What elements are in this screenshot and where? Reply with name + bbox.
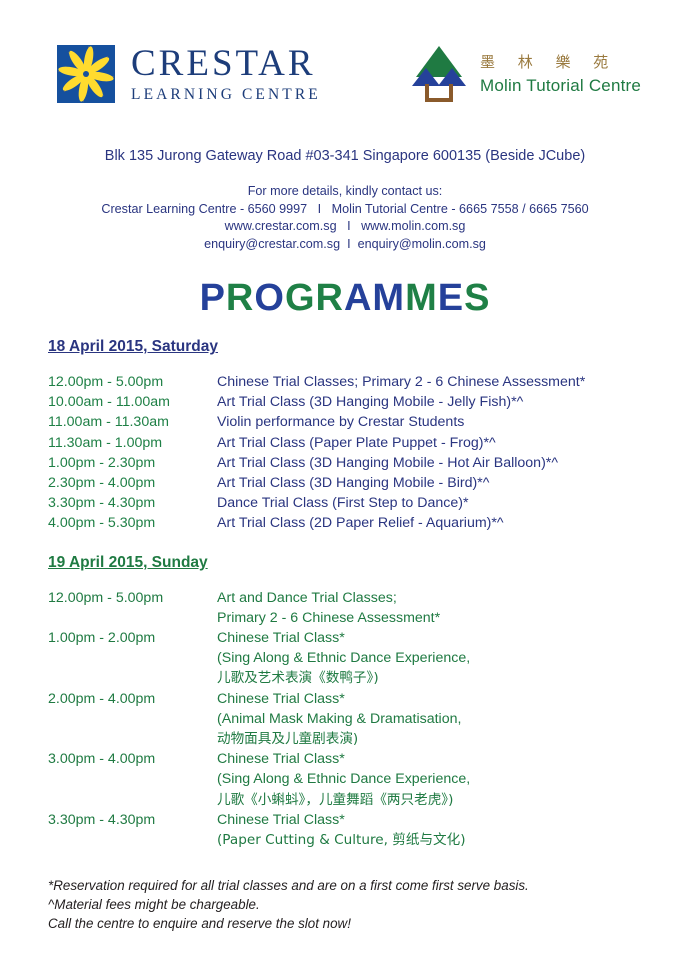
schedule-description: Chinese Trial Classes; Primary 2 - 6 Chi… <box>217 372 585 392</box>
schedule-description-line: Chinese Trial Class* <box>217 749 470 769</box>
schedule-description-line: 儿歌《小蝌蚪》，儿童舞蹈《两只老虎》) <box>217 790 470 810</box>
saturday-section: 18 April 2015, Saturday 12.00pm - 5.00pm… <box>0 338 690 534</box>
schedule-description-line: Art and Dance Trial Classes; <box>217 588 440 608</box>
schedule-description: Chinese Trial Class*(Sing Along & Ethnic… <box>217 628 470 689</box>
schedule-description-line: Dance Trial Class (First Step to Dance)* <box>217 493 469 513</box>
schedule-time: 11.00am - 11.30am <box>48 412 217 432</box>
schedule-row: 12.00pm - 5.00pmChinese Trial Classes; P… <box>48 372 690 392</box>
schedule-description-line: Chinese Trial Class* <box>217 810 466 830</box>
schedule-description-line: (Sing Along & Ethnic Dance Experience, <box>217 769 470 789</box>
schedule-row: 10.00am - 11.00amArt Trial Class (3D Han… <box>48 392 690 412</box>
molin-name: Molin Tutorial Centre <box>480 77 641 94</box>
title-letter-2: O <box>254 277 285 319</box>
schedule-description-line: 动物面具及儿童剧表演) <box>217 729 461 749</box>
molin-wordmark: 墨 林 樂 苑 Molin Tutorial Centre <box>480 55 641 94</box>
contact-emails: enquiry@crestar.com.sg I enquiry@molin.c… <box>0 236 690 254</box>
schedule-description-line: Art Trial Class (3D Hanging Mobile - Bir… <box>217 473 489 493</box>
title-letter-7: M <box>405 277 438 319</box>
schedule-description: Art Trial Class (2D Paper Relief - Aquar… <box>217 513 504 533</box>
schedule-description: Art Trial Class (3D Hanging Mobile - Jel… <box>217 392 523 412</box>
schedule-description: Art Trial Class (3D Hanging Mobile - Bir… <box>217 473 489 493</box>
schedule-row: 2.00pm - 4.00pmChinese Trial Class*(Anim… <box>48 689 690 750</box>
schedule-row: 1.00pm - 2.00pmChinese Trial Class*(Sing… <box>48 628 690 689</box>
address-line: Blk 135 Jurong Gateway Road #03-341 Sing… <box>0 148 690 164</box>
schedule-row: 11.30am - 1.00pmArt Trial Class (Paper P… <box>48 433 690 453</box>
schedule-row: 3.30pm - 4.30pmChinese Trial Class*(Pape… <box>48 810 690 850</box>
schedule-description: Chinese Trial Class*(Sing Along & Ethnic… <box>217 749 470 810</box>
crestar-subtitle: LEARNING CENTRE <box>131 87 321 103</box>
title-letter-9: S <box>464 277 490 319</box>
schedule-description-line: Chinese Trial Classes; Primary 2 - 6 Chi… <box>217 372 585 392</box>
schedule-description: Dance Trial Class (First Step to Dance)* <box>217 493 469 513</box>
footnotes: *Reservation required for all trial clas… <box>48 876 690 933</box>
schedule-description-line: Art Trial Class (3D Hanging Mobile - Jel… <box>217 392 523 412</box>
schedule-description: Violin performance by Crestar Students <box>217 412 464 432</box>
schedule-time: 3.30pm - 4.30pm <box>48 493 217 513</box>
schedule-time: 1.00pm - 2.00pm <box>48 628 217 689</box>
schedule-row: 2.30pm - 4.00pmArt Trial Class (3D Hangi… <box>48 473 690 493</box>
schedule-description: Art Trial Class (3D Hanging Mobile - Hot… <box>217 453 558 473</box>
title-letter-0: P <box>200 277 226 319</box>
schedule-description: Art Trial Class (Paper Plate Puppet - Fr… <box>217 433 496 453</box>
crestar-starburst-icon <box>57 45 115 103</box>
title-letter-5: A <box>344 277 372 319</box>
schedule-time: 2.00pm - 4.00pm <box>48 689 217 750</box>
schedule-description-line: Chinese Trial Class* <box>217 689 461 709</box>
schedule-row: 1.00pm - 2.30pmArt Trial Class (3D Hangi… <box>48 453 690 473</box>
schedule-description-line: Violin performance by Crestar Students <box>217 412 464 432</box>
schedule-description-line: (Sing Along & Ethnic Dance Experience, <box>217 648 470 668</box>
schedule-time: 12.00pm - 5.00pm <box>48 588 217 628</box>
schedule-description: Chinese Trial Class*(Animal Mask Making … <box>217 689 461 750</box>
schedule-description-line: Art Trial Class (Paper Plate Puppet - Fr… <box>217 433 496 453</box>
schedule-time: 4.00pm - 5.30pm <box>48 513 217 533</box>
schedule-time: 1.00pm - 2.30pm <box>48 453 217 473</box>
page-title: PROGRAMMES <box>0 277 690 320</box>
title-letter-4: R <box>316 277 344 319</box>
schedule-description: Chinese Trial Class*(Paper Cutting & Cul… <box>217 810 466 850</box>
molin-chinese-name: 墨 林 樂 苑 <box>480 55 641 70</box>
molin-logo: 墨 林 樂 苑 Molin Tutorial Centre <box>408 44 641 104</box>
saturday-heading: 18 April 2015, Saturday <box>48 338 218 356</box>
schedule-row: 3.30pm - 4.30pmDance Trial Class (First … <box>48 493 690 513</box>
schedule-row: 3.00pm - 4.00pmChinese Trial Class*(Sing… <box>48 749 690 810</box>
sunday-section: 19 April 2015, Sunday 12.00pm - 5.00pmAr… <box>0 554 690 851</box>
schedule-description-line: (Animal Mask Making & Dramatisation, <box>217 709 461 729</box>
contact-phones: Crestar Learning Centre - 6560 9997 I Mo… <box>0 201 690 219</box>
schedule-time: 2.30pm - 4.00pm <box>48 473 217 493</box>
sunday-heading: 19 April 2015, Sunday <box>48 554 208 572</box>
schedule-time: 3.00pm - 4.00pm <box>48 749 217 810</box>
contact-block: For more details, kindly contact us: Cre… <box>0 183 690 253</box>
footnote-line-2: Call the centre to enquire and reserve t… <box>48 914 690 933</box>
schedule-description: Art and Dance Trial Classes;Primary 2 - … <box>217 588 440 628</box>
footnote-line-0: *Reservation required for all trial clas… <box>48 876 690 895</box>
schedule-description-line: Chinese Trial Class* <box>217 628 470 648</box>
saturday-schedule: 12.00pm - 5.00pmChinese Trial Classes; P… <box>0 372 690 534</box>
schedule-row: 4.00pm - 5.30pmArt Trial Class (2D Paper… <box>48 513 690 533</box>
schedule-description-line: 儿歌及艺术表演《数鸭子》) <box>217 668 470 688</box>
logo-header: CRESTAR LEARNING CENTRE 墨 林 樂 苑 Molin Tu… <box>0 0 690 120</box>
title-letter-3: G <box>285 277 316 319</box>
schedule-row: 12.00pm - 5.00pmArt and Dance Trial Clas… <box>48 588 690 628</box>
title-letter-1: R <box>226 277 254 319</box>
schedule-description-line: Primary 2 - 6 Chinese Assessment* <box>217 608 440 628</box>
title-letter-6: M <box>372 277 405 319</box>
sunday-schedule: 12.00pm - 5.00pmArt and Dance Trial Clas… <box>0 588 690 851</box>
crestar-wordmark: CRESTAR LEARNING CENTRE <box>131 45 321 103</box>
schedule-row: 11.00am - 11.30amViolin performance by C… <box>48 412 690 432</box>
footnote-line-1: ^Material fees might be chargeable. <box>48 895 690 914</box>
crestar-name: CRESTAR <box>131 45 321 82</box>
schedule-time: 10.00am - 11.00am <box>48 392 217 412</box>
crestar-logo: CRESTAR LEARNING CENTRE <box>57 45 321 103</box>
schedule-description-line: Art Trial Class (2D Paper Relief - Aquar… <box>217 513 504 533</box>
molin-tree-house-icon <box>408 44 470 104</box>
schedule-time: 3.30pm - 4.30pm <box>48 810 217 850</box>
schedule-description-line: (Paper Cutting & Culture, 剪纸与文化) <box>217 830 466 850</box>
contact-intro: For more details, kindly contact us: <box>0 183 690 201</box>
contact-websites: www.crestar.com.sg I www.molin.com.sg <box>0 218 690 236</box>
schedule-description-line: Art Trial Class (3D Hanging Mobile - Hot… <box>217 453 558 473</box>
schedule-time: 11.30am - 1.00pm <box>48 433 217 453</box>
title-letter-8: E <box>438 277 464 319</box>
schedule-time: 12.00pm - 5.00pm <box>48 372 217 392</box>
